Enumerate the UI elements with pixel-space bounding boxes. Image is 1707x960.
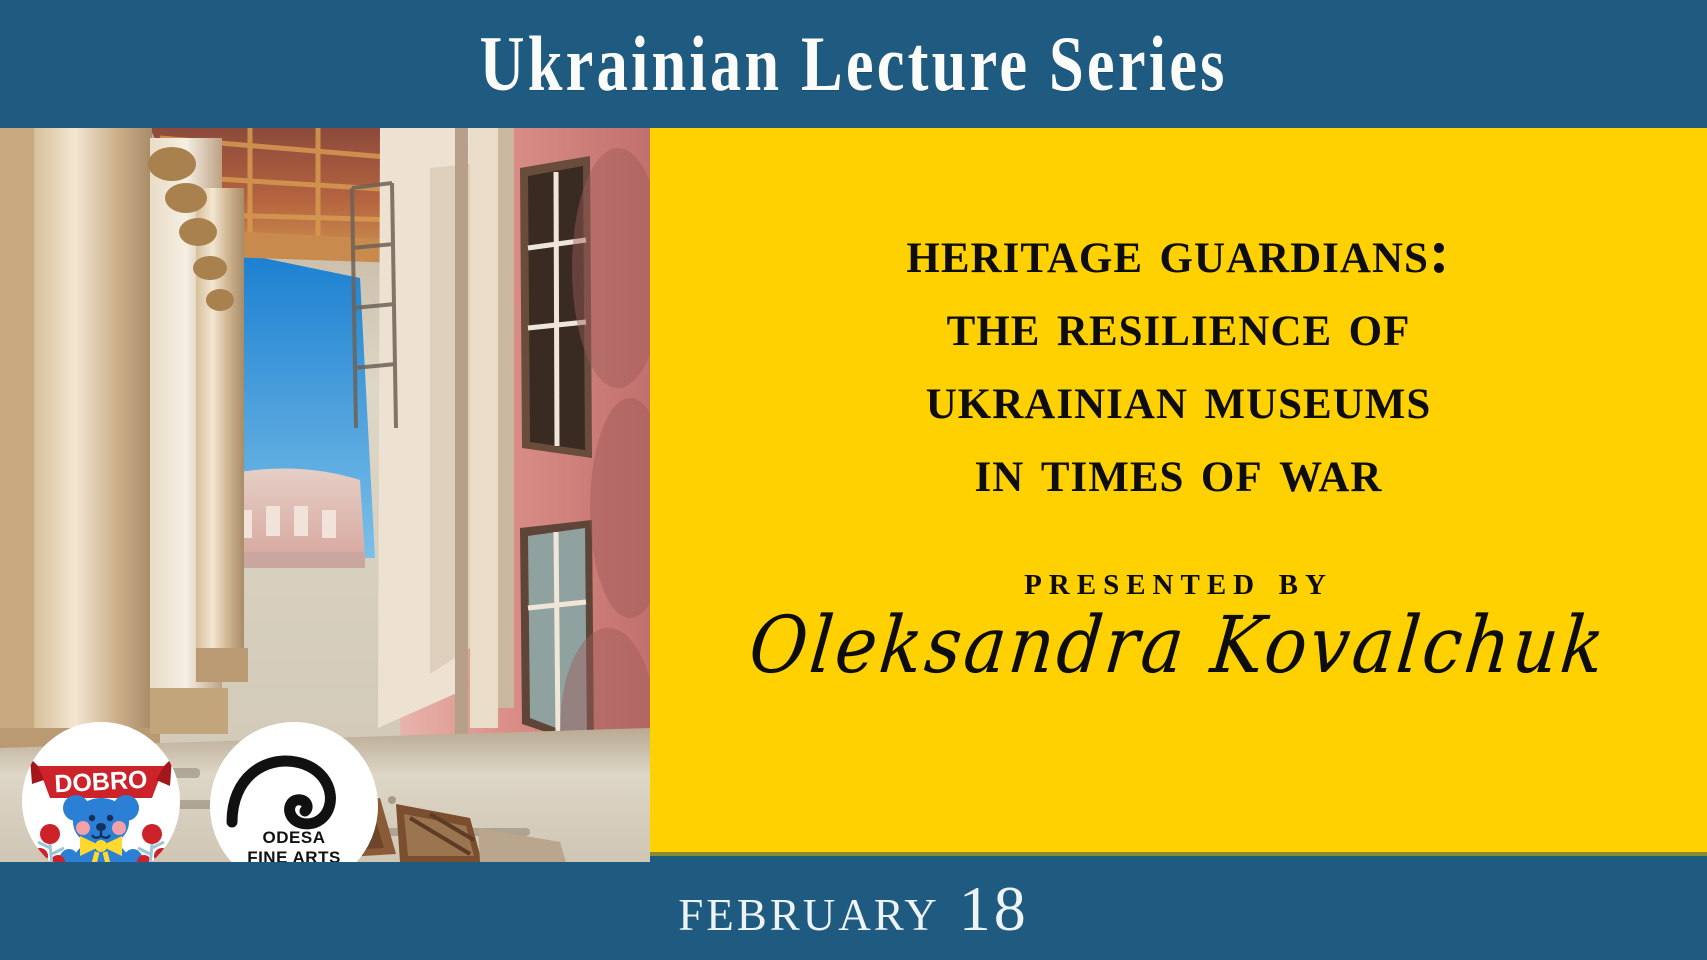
lecture-title-line-3: Ukrainian Museums bbox=[926, 362, 1432, 435]
date-banner: February 18 bbox=[0, 862, 1707, 960]
event-date: February 18 bbox=[678, 877, 1029, 941]
svg-text:DOBRO: DOBRO bbox=[54, 766, 148, 799]
lecture-title-line-4: in Times of War bbox=[975, 435, 1383, 508]
speaker-name: Oleksandra Kovalchuk bbox=[746, 602, 1612, 688]
panel-divider-rule bbox=[650, 852, 1707, 856]
teddy-bear-icon: DOBRO bbox=[22, 722, 180, 880]
series-title: Ukrainian Lecture Series bbox=[479, 25, 1227, 103]
lecture-poster: Ukrainian Lecture Series bbox=[0, 0, 1707, 960]
series-banner: Ukrainian Lecture Series bbox=[0, 0, 1707, 128]
lecture-details-panel: Heritage Guardians: The Resilience of Uk… bbox=[650, 128, 1707, 852]
dobro-logo[interactable]: DOBRO bbox=[22, 722, 180, 880]
lecture-title-line-1: Heritage Guardians: bbox=[906, 216, 1450, 289]
lecture-title-line-2: The Resilience of bbox=[947, 289, 1411, 362]
presented-by-label: Presented by bbox=[1024, 557, 1333, 605]
odesa-logo-line-1: ODESA bbox=[263, 828, 326, 847]
